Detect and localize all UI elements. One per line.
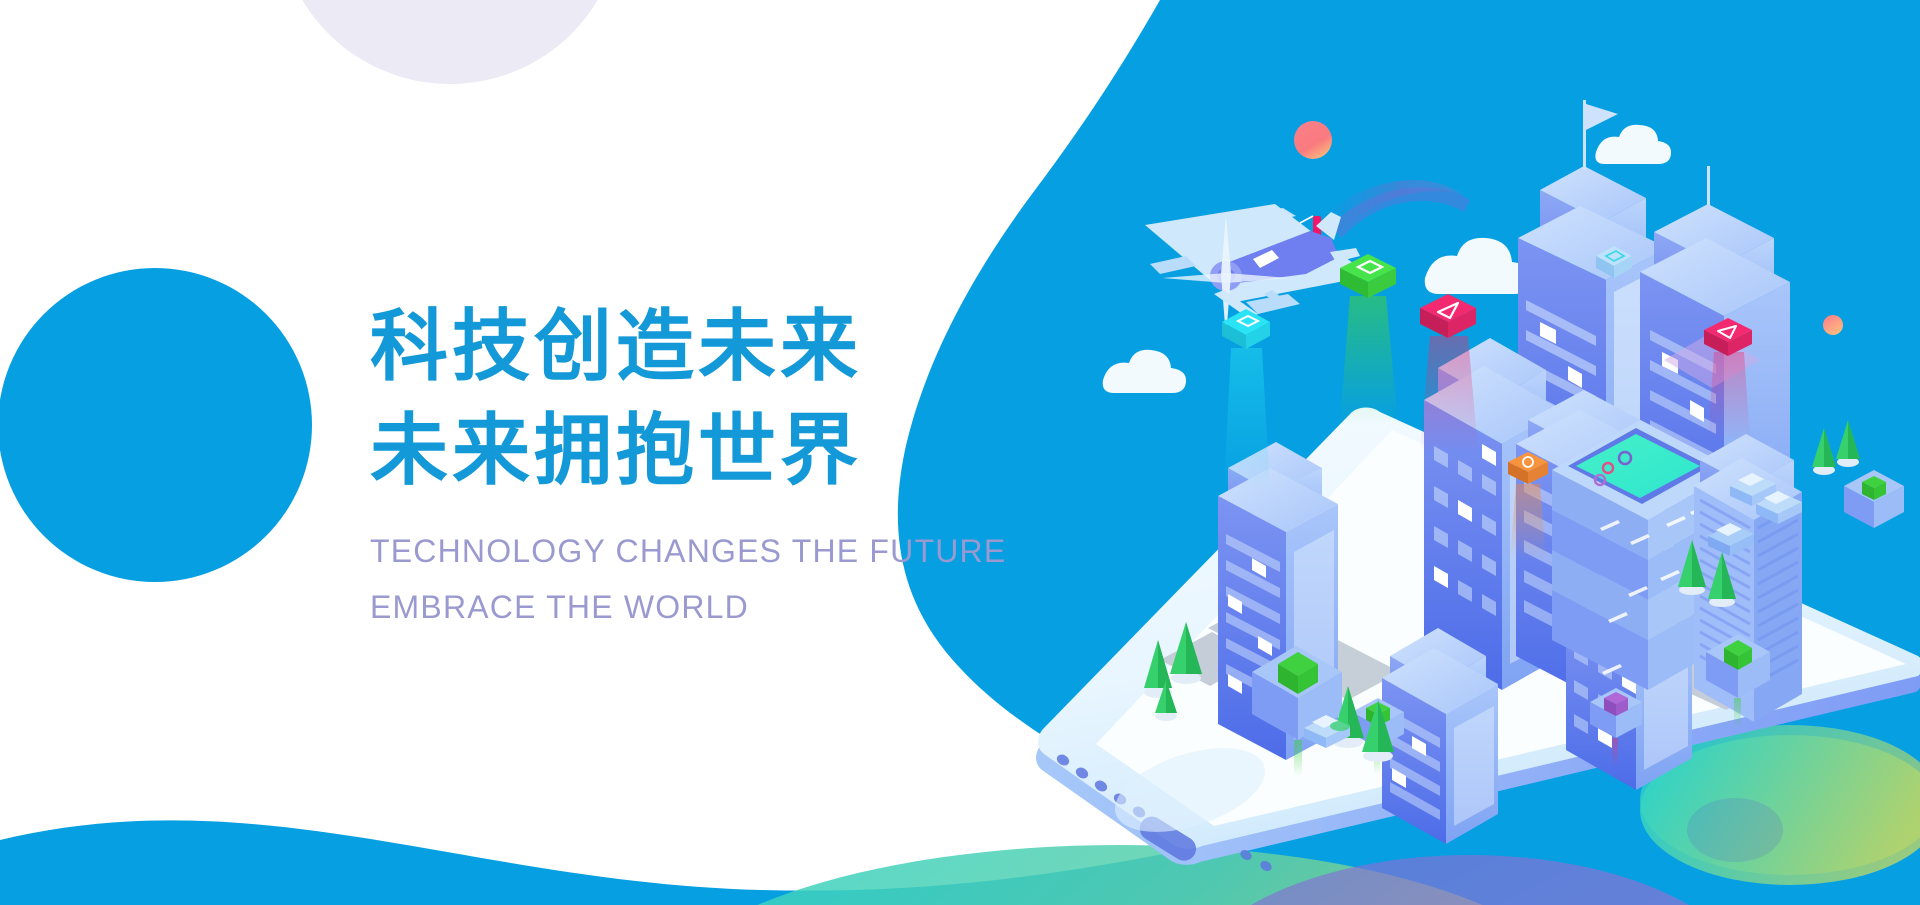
cloud-icon-3 [1103, 350, 1186, 393]
floating-icon-cyan-group [1222, 309, 1270, 490]
beam-cyan [1224, 348, 1270, 490]
subheadline-line-2: EMBRACE THE WORLD [370, 579, 1070, 635]
flag-icon [1586, 104, 1618, 130]
hero-banner: 科技创造未来 未来拥抱世界 TECHNOLOGY CHANGES THE FUT… [0, 0, 1920, 905]
cloud-icon-1 [1425, 238, 1531, 294]
beam-pink-right [1708, 352, 1750, 440]
cloud-icon-2 [1595, 125, 1671, 164]
plinth-beam-2 [1734, 698, 1741, 728]
subheadline-block: TECHNOLOGY CHANGES THE FUTURE EMBRACE TH… [370, 523, 1070, 635]
beam-pink [1420, 336, 1478, 452]
subheadline-line-1: TECHNOLOGY CHANGES THE FUTURE [370, 523, 1070, 579]
floating-app-icon-cyan [1222, 309, 1270, 349]
beam-green [1340, 296, 1398, 424]
plinth-beam-1 [1294, 740, 1302, 776]
plinth-beam-4 [1612, 738, 1618, 766]
kite-trail-2 [1330, 187, 1470, 238]
headline-line-1: 科技创造未来 [370, 295, 1070, 399]
flag-pole [1583, 100, 1586, 170]
pedestal-cube-right [1844, 470, 1904, 528]
headline-line-2: 未来拥抱世界 [370, 399, 1070, 503]
floating-icon-green-group [1340, 254, 1398, 424]
floating-icon-pink-group [1420, 294, 1478, 452]
floating-app-icon-pink [1420, 294, 1476, 338]
tree-icon [1812, 428, 1836, 475]
hero-text-block: 科技创造未来 未来拥抱世界 TECHNOLOGY CHANGES THE FUT… [370, 295, 1070, 635]
beam-orange [1510, 484, 1546, 560]
tree-icon [1836, 420, 1860, 467]
